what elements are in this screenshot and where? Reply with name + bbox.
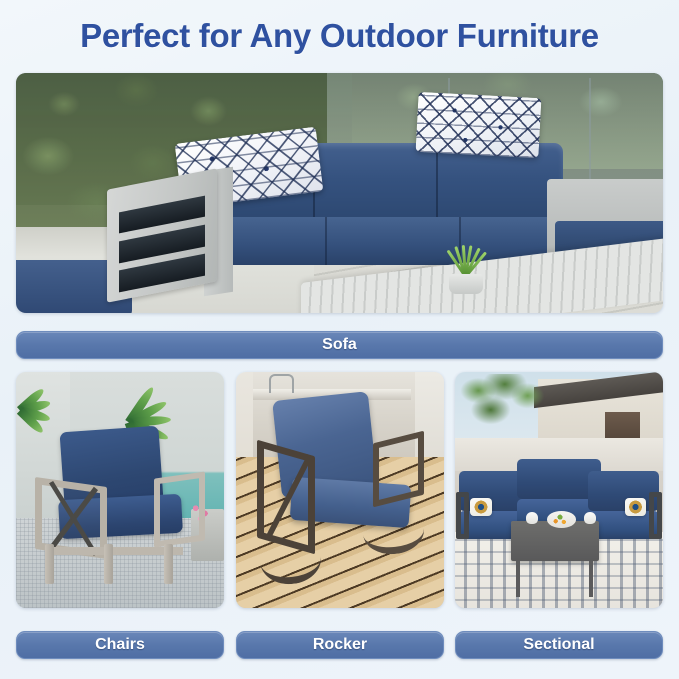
page-title: Perfect for Any Outdoor Furniture <box>0 17 679 55</box>
chair-rail <box>45 547 183 555</box>
label-text-chairs: Chairs <box>95 636 145 654</box>
label-bar-sofa[interactable]: Sofa <box>16 331 663 359</box>
outdoor-armchair <box>35 429 206 585</box>
background-faucet <box>269 374 294 393</box>
sectional-right-module <box>588 471 659 542</box>
fruit-bowl <box>547 511 576 528</box>
sectional-scene <box>455 372 663 608</box>
sectional-arm-frame <box>649 492 662 539</box>
sofa-armrest-slats <box>107 168 217 302</box>
background-garage-door <box>605 412 640 438</box>
throw-pillow-right <box>416 91 542 157</box>
label-text-sectional: Sectional <box>523 636 594 654</box>
rocking-chair <box>257 396 428 585</box>
product-feature-page: Perfect for Any Outdoor Furniture <box>0 0 679 679</box>
label-bar-chairs[interactable]: Chairs <box>16 631 224 659</box>
photo-sectional[interactable] <box>455 372 663 608</box>
potted-plant <box>430 241 501 294</box>
label-bar-rocker[interactable]: Rocker <box>236 631 444 659</box>
rocker-rail-right <box>360 506 426 557</box>
chair-legs <box>42 544 199 584</box>
photo-chairs[interactable] <box>16 372 224 608</box>
plant-pot <box>449 274 483 294</box>
chair-leg <box>164 544 173 584</box>
coffee-cup <box>584 512 596 524</box>
rocker-scene <box>236 372 444 608</box>
label-text-sofa: Sofa <box>322 336 357 354</box>
photo-rocker[interactable] <box>236 372 444 608</box>
rocker-rail-left <box>258 532 324 587</box>
chair-arm-right <box>154 472 205 548</box>
hero-photo-sofa[interactable] <box>16 73 663 313</box>
label-bar-sectional[interactable]: Sectional <box>455 631 663 659</box>
label-text-rocker: Rocker <box>313 636 367 654</box>
chair-leg <box>104 544 113 584</box>
hero-scene <box>16 73 663 313</box>
rocker-arm-right <box>373 431 424 508</box>
sectional-arm-frame <box>456 492 469 539</box>
sectional-throw-pillow <box>470 498 491 516</box>
chairs-scene <box>16 372 224 608</box>
chair-leg <box>45 544 54 584</box>
sectional-throw-pillow <box>625 498 646 516</box>
coffee-cup <box>526 512 538 524</box>
cushion-seam <box>436 145 438 222</box>
background-tree <box>459 374 546 438</box>
cushion-seam <box>325 217 327 265</box>
